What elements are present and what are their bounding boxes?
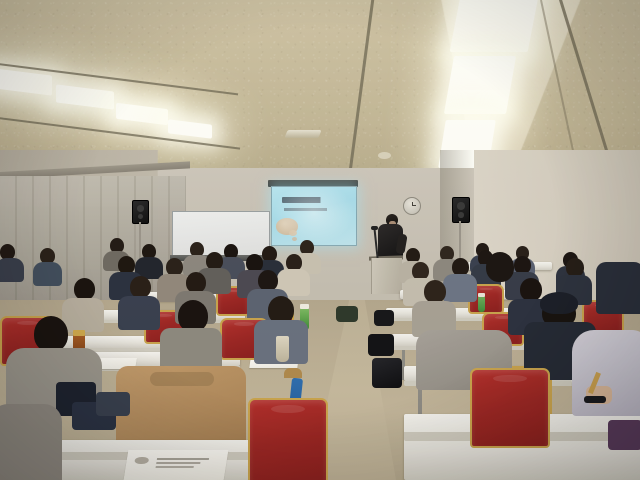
handout-text-line [156, 466, 194, 468]
pa-speaker-left [132, 200, 149, 224]
projector-mount-icon [284, 130, 321, 138]
attendee-torso [0, 404, 62, 480]
whiteboard [172, 211, 270, 259]
speaker-cone [138, 214, 143, 219]
attendee-head [186, 272, 206, 293]
slide-glow [272, 187, 356, 245]
bottle-cap [73, 330, 85, 336]
speaker-cone [458, 212, 463, 217]
handout [124, 450, 229, 480]
speaker-cone [137, 205, 145, 212]
umbrella-handle [284, 368, 302, 378]
attendee-head [424, 280, 446, 303]
attendee-head [486, 252, 514, 282]
chair [248, 398, 328, 480]
seminar-room-photo [0, 0, 640, 480]
attendee-head [520, 278, 542, 301]
bag [372, 358, 402, 388]
bottle-cap [478, 293, 485, 297]
bottle-green [478, 296, 485, 312]
smoke-detector-icon [378, 152, 391, 159]
pa-speaker-right [452, 197, 470, 223]
attendee-head [130, 276, 151, 298]
wristwatch [584, 396, 606, 403]
attendee-torso [118, 296, 160, 330]
backpack [336, 306, 358, 322]
attendee-torso [62, 298, 104, 332]
bottle-cap [300, 304, 309, 309]
ceiling-light-panel [450, 0, 541, 52]
wall-clock-icon [403, 197, 421, 215]
speaker-cone [457, 202, 465, 209]
attendee-torso [443, 274, 477, 302]
projection-screen [271, 186, 357, 246]
bag [374, 310, 394, 326]
handout-text-line [157, 458, 209, 460]
attendee-torso [33, 262, 62, 286]
lectern [371, 258, 402, 294]
attendee-head [258, 270, 278, 291]
attendee-torso [596, 262, 640, 314]
ceiling-light-panel [444, 56, 516, 114]
paper-cup [276, 336, 289, 362]
chair [470, 368, 550, 448]
attendee-head [34, 316, 68, 352]
clock-hand [412, 205, 416, 206]
coat-collar [150, 372, 214, 386]
microphone-icon [371, 226, 378, 230]
attendee-head [74, 278, 95, 300]
bag [96, 392, 130, 416]
beret-hat [540, 292, 578, 314]
attendee-torso [0, 258, 24, 282]
bag [608, 420, 640, 450]
handout-text-line [156, 462, 200, 464]
bag [368, 334, 394, 356]
handout-logo-icon [134, 457, 149, 465]
